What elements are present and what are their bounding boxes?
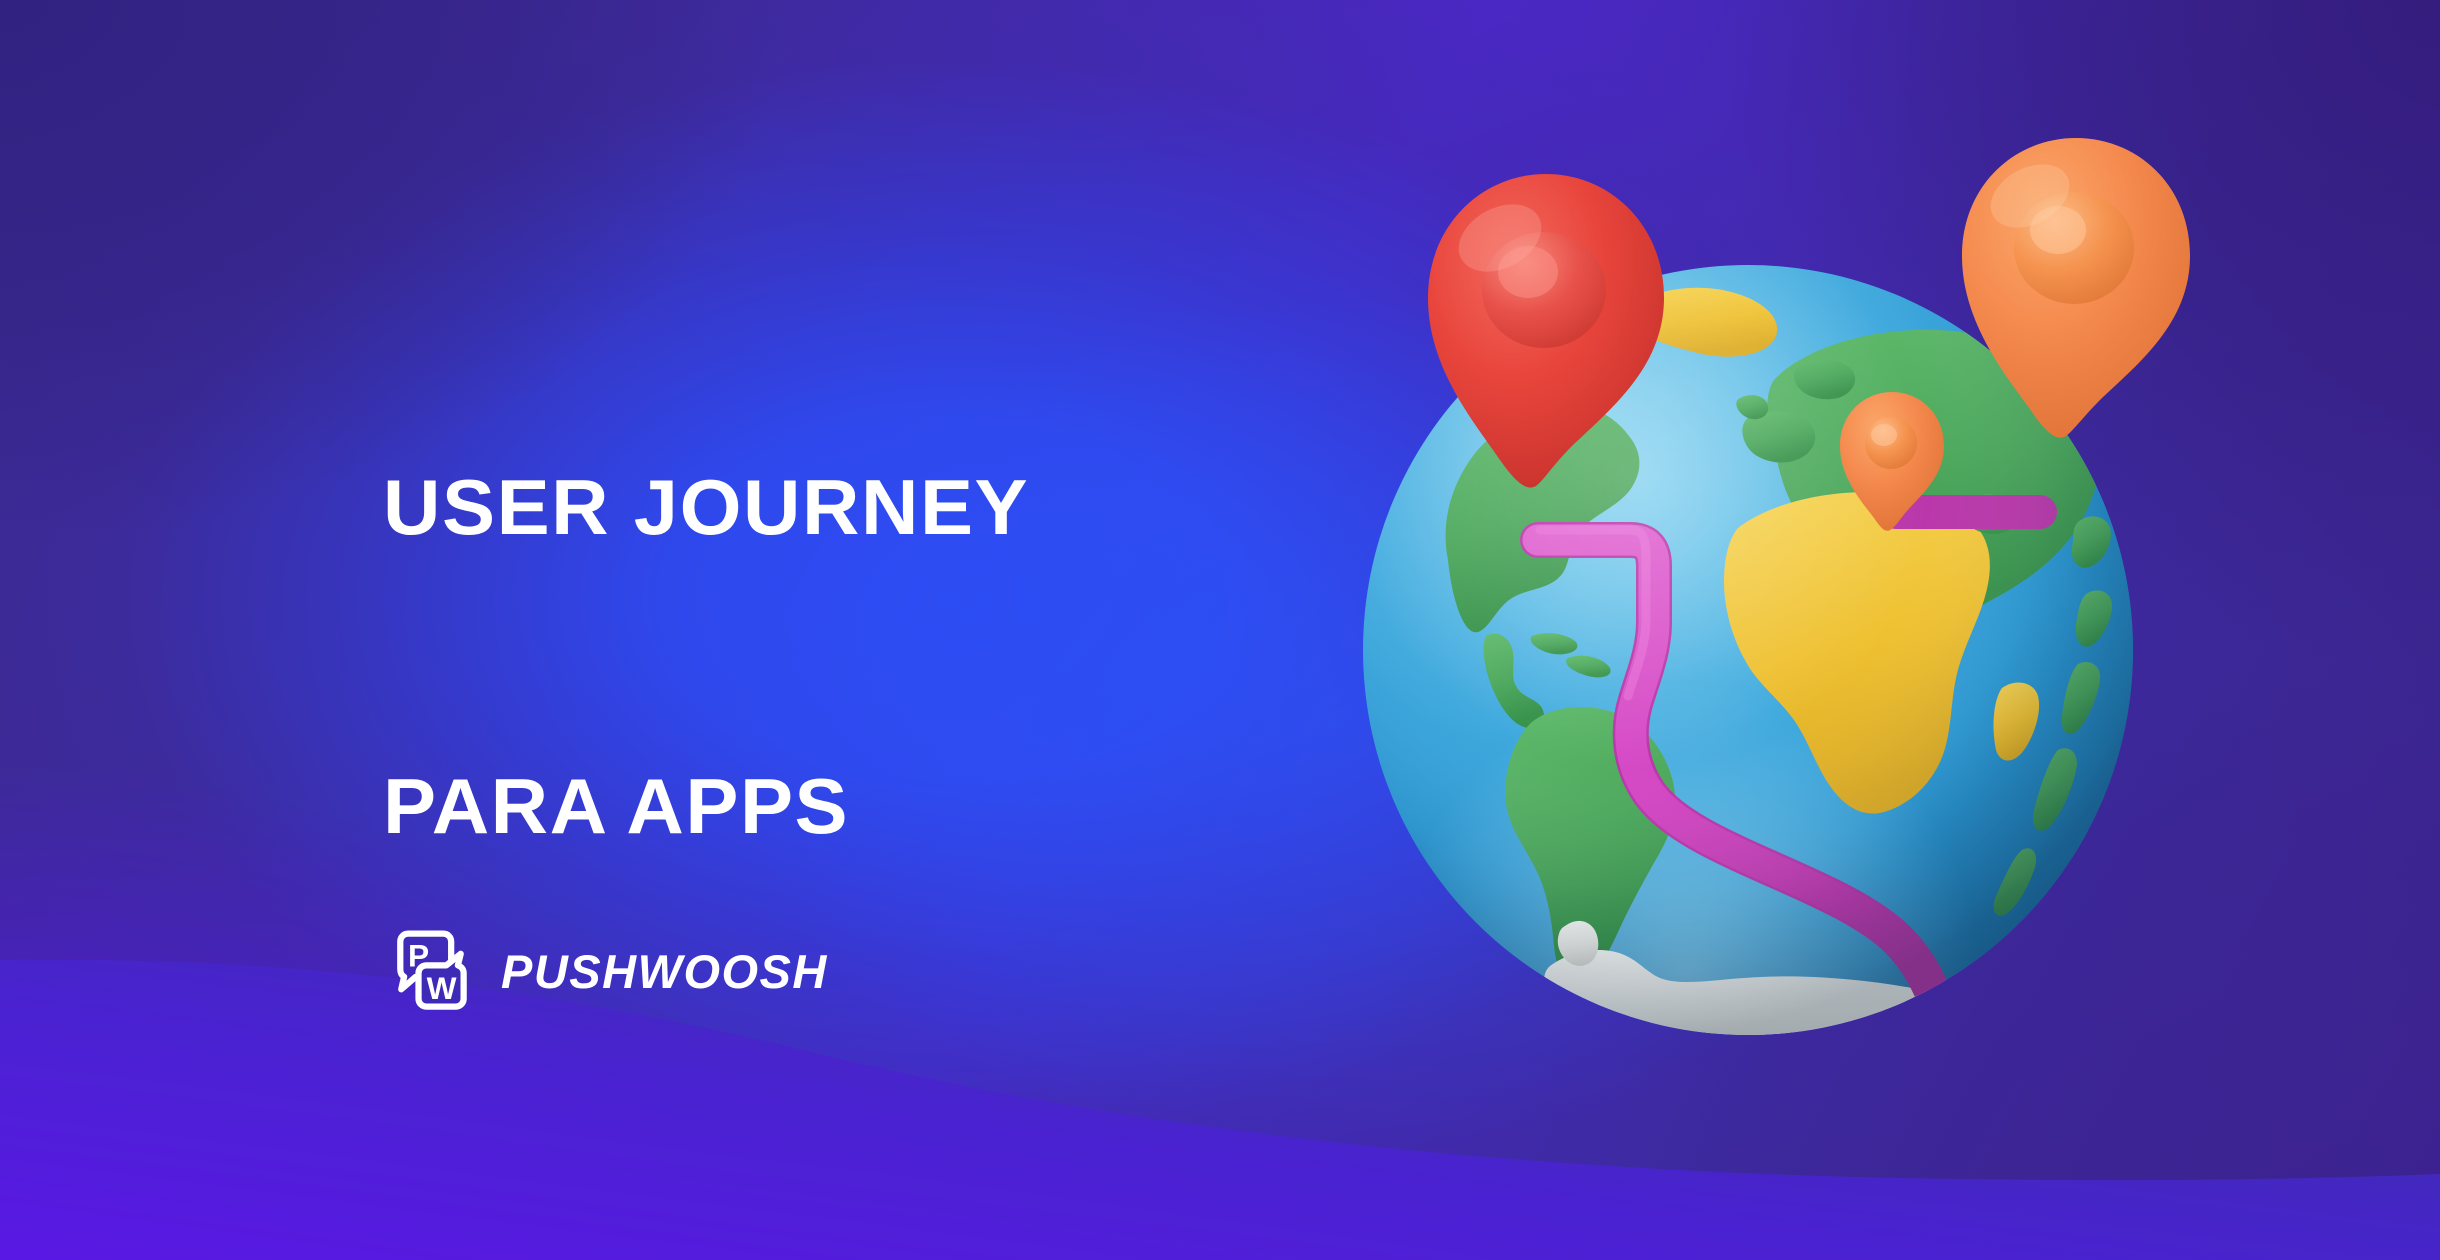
banner: USER JOURNEY PARA APPS P W PUSHWOOSH	[0, 0, 2440, 1260]
headline-line-1: USER JOURNEY	[383, 458, 1029, 558]
pushwoosh-logo-mark-icon: P W	[383, 925, 479, 1021]
logo-letter-w: W	[427, 970, 457, 1006]
headline-line-2: PARA APPS	[383, 757, 1029, 857]
globe-illustration	[1300, 130, 2200, 1060]
pushwoosh-logo[interactable]: P W PUSHWOOSH	[383, 925, 828, 1021]
pin-orange-small-dome-highlight	[1871, 424, 1897, 446]
pushwoosh-wordmark: PUSHWOOSH	[501, 948, 828, 995]
globe-svg	[1300, 130, 2200, 1060]
